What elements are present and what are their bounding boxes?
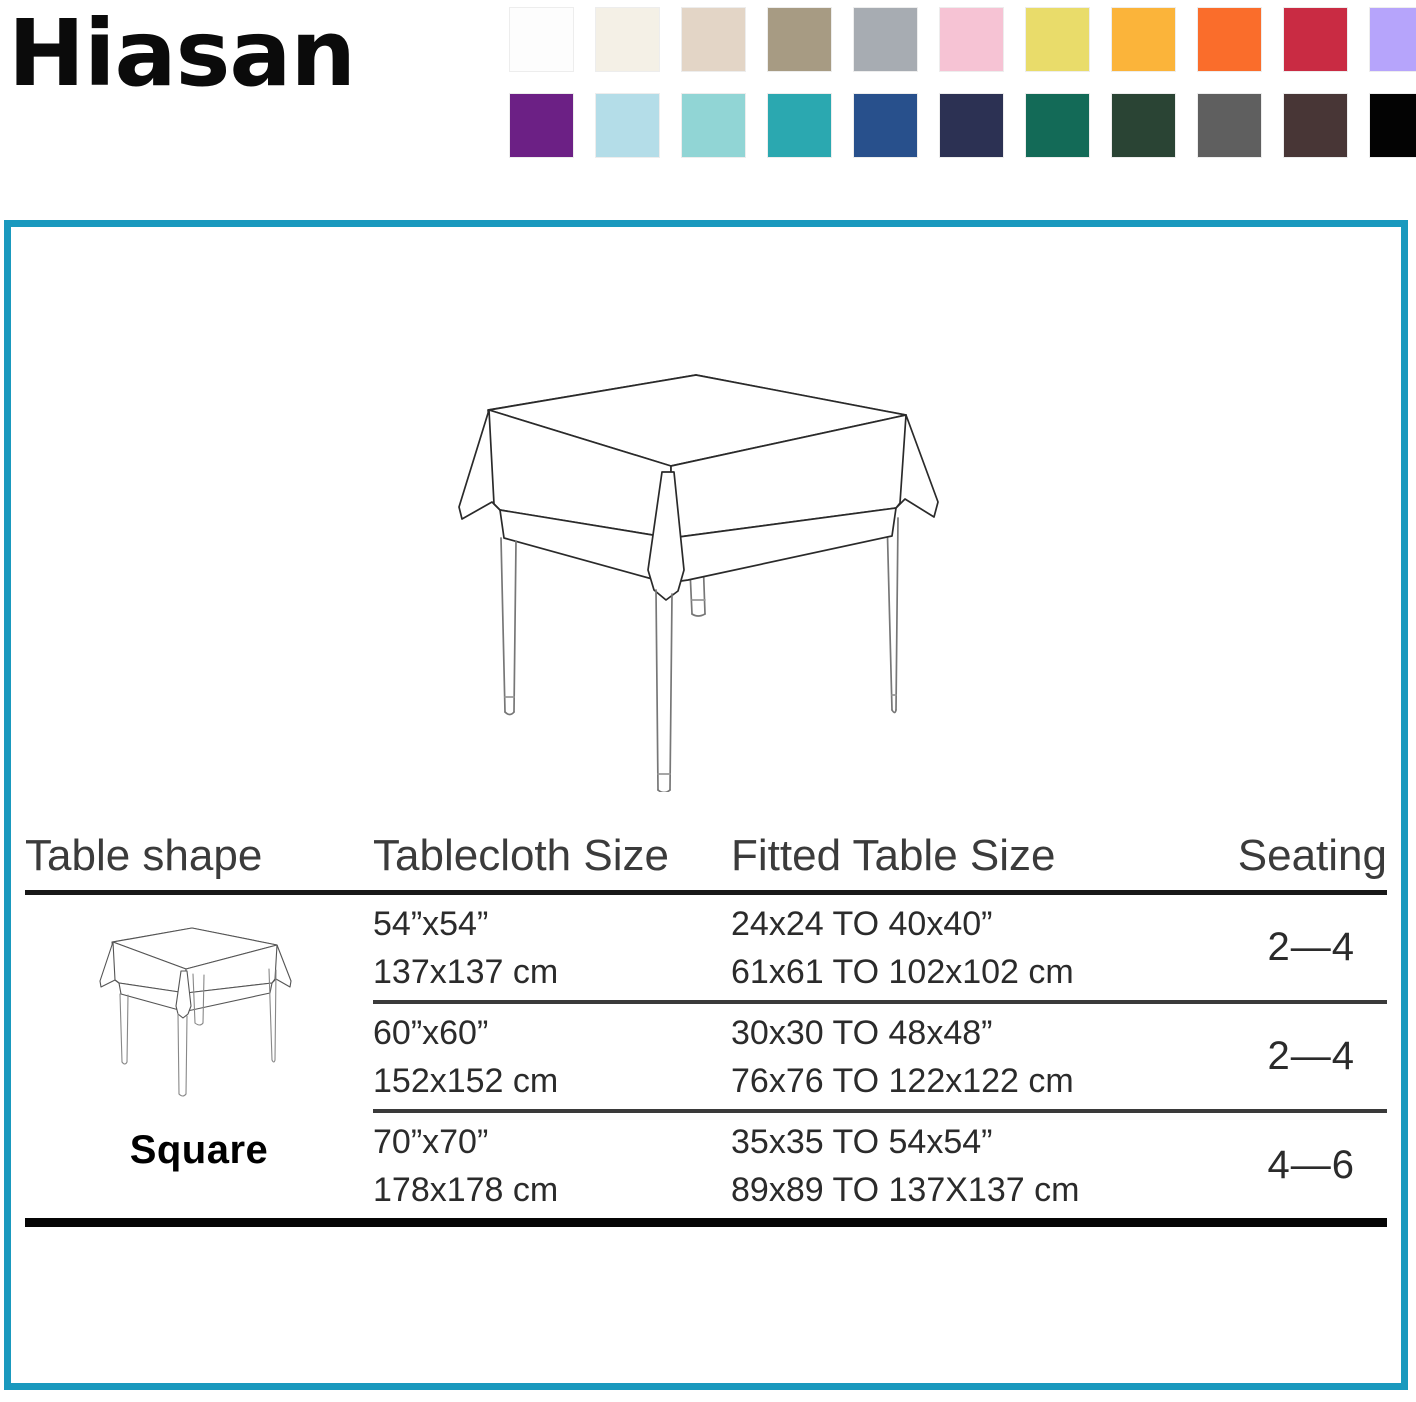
color-swatch-orange[interactable] (1198, 8, 1261, 71)
color-swatch-teal[interactable] (768, 94, 831, 157)
color-swatch-marigold[interactable] (1112, 8, 1175, 71)
square-table-icon (91, 917, 307, 1122)
fitted-table-size-cell: 35x35 TO 54x54” 89x89 TO 137X137 cm (731, 1125, 1201, 1207)
fitted-size-cm: 61x61 TO 102x102 cm (731, 955, 1201, 989)
color-swatch-row-1 (510, 8, 1410, 71)
table-row: 60”x60” 152x152 cm 30x30 TO 48x48” 76x76… (373, 1000, 1387, 1109)
tablecloth-size-inches: 54”x54” (373, 907, 731, 941)
color-swatch-hunter-green[interactable] (1112, 94, 1175, 157)
color-swatch-grid (510, 8, 1410, 157)
tablecloth-size-cell: 70”x70” 178x178 cm (373, 1125, 731, 1207)
header-tablecloth-size: Tablecloth Size (373, 834, 731, 878)
color-swatch-charcoal-gray[interactable] (1198, 94, 1261, 157)
tablecloth-size-cell: 60”x60” 152x152 cm (373, 1016, 731, 1098)
size-guide-panel: Table shape Tablecloth Size Fitted Table… (4, 220, 1408, 1390)
shape-label: Square (130, 1128, 269, 1173)
table-bottom-divider (25, 1218, 1387, 1227)
color-swatch-aqua-mist[interactable] (682, 94, 745, 157)
color-swatch-light-blue[interactable] (596, 94, 659, 157)
seating-cell: 4—6 (1201, 1143, 1387, 1188)
brand-logo: Hiasan (8, 8, 355, 100)
color-swatch-yellow[interactable] (1026, 8, 1089, 71)
brand-and-swatch-band: Hiasan (0, 0, 1416, 205)
fitted-size-inches: 24x24 TO 40x40” (731, 907, 1201, 941)
square-table-illustration (11, 327, 1401, 807)
table-row: 54”x54” 137x137 cm 24x24 TO 40x40” 61x61… (373, 895, 1387, 1000)
color-swatch-ivory[interactable] (596, 8, 659, 71)
color-swatch-lavender[interactable] (1370, 8, 1416, 71)
seating-cell: 2—4 (1201, 1034, 1387, 1079)
color-swatch-purple[interactable] (510, 94, 573, 157)
header-fitted-table-size: Fitted Table Size (731, 834, 1201, 878)
color-swatch-silver-gray[interactable] (854, 8, 917, 71)
size-spec-table: Table shape Tablecloth Size Fitted Table… (25, 812, 1387, 1227)
spec-table-body: Square 54”x54” 137x137 cm 24x24 TO 40x40… (25, 895, 1387, 1218)
color-swatch-baby-pink[interactable] (940, 8, 1003, 71)
fitted-table-size-cell: 30x30 TO 48x48” 76x76 TO 122x122 cm (731, 1016, 1201, 1098)
spec-table-header-row: Table shape Tablecloth Size Fitted Table… (25, 812, 1387, 878)
tablecloth-size-cm: 152x152 cm (373, 1064, 731, 1098)
shape-cell: Square (25, 895, 373, 1218)
header-table-shape: Table shape (25, 834, 373, 878)
spec-rows: 54”x54” 137x137 cm 24x24 TO 40x40” 61x61… (373, 895, 1387, 1218)
tablecloth-size-inches: 70”x70” (373, 1125, 731, 1159)
fitted-table-size-cell: 24x24 TO 40x40” 61x61 TO 102x102 cm (731, 907, 1201, 989)
color-swatch-beige[interactable] (682, 8, 745, 71)
color-swatch-coffee-brown[interactable] (1284, 94, 1347, 157)
fitted-size-inches: 35x35 TO 54x54” (731, 1125, 1201, 1159)
tablecloth-size-cm: 178x178 cm (373, 1173, 731, 1207)
tablecloth-size-inches: 60”x60” (373, 1016, 731, 1050)
color-swatch-red[interactable] (1284, 8, 1347, 71)
tablecloth-size-cell: 54”x54” 137x137 cm (373, 907, 731, 989)
color-swatch-black[interactable] (1370, 94, 1416, 157)
tablecloth-size-cm: 137x137 cm (373, 955, 731, 989)
table-row: 70”x70” 178x178 cm 35x35 TO 54x54” 89x89… (373, 1109, 1387, 1218)
color-swatch-emerald-green[interactable] (1026, 94, 1089, 157)
square-table-svg (426, 342, 986, 792)
fitted-size-cm: 76x76 TO 122x122 cm (731, 1064, 1201, 1098)
seating-cell: 2—4 (1201, 925, 1387, 970)
fitted-size-inches: 30x30 TO 48x48” (731, 1016, 1201, 1050)
color-swatch-navy-blue[interactable] (854, 94, 917, 157)
header-seating: Seating (1201, 834, 1387, 878)
color-swatch-row-2 (510, 94, 1410, 157)
color-swatch-taupe[interactable] (768, 8, 831, 71)
color-swatch-white[interactable] (510, 8, 573, 71)
color-swatch-dark-navy[interactable] (940, 94, 1003, 157)
fitted-size-cm: 89x89 TO 137X137 cm (731, 1173, 1201, 1207)
